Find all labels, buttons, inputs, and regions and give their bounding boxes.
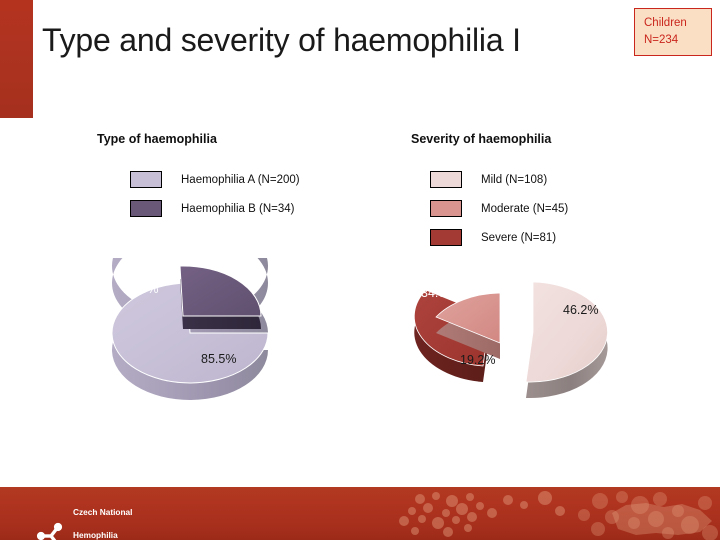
page-title: Type and severity of haemophilia I: [42, 22, 612, 59]
legend-item-haemophilia-b: Haemophilia B (N=34): [130, 194, 300, 223]
cohort-badge-line2: N=234: [644, 32, 703, 49]
legend-swatch-haemophilia-b: [130, 200, 162, 217]
cohort-badge-line1: Children: [644, 15, 703, 32]
legend-label-haemophilia-a: Haemophilia A (N=200): [181, 174, 300, 186]
legend-label-severe: Severe (N=81): [481, 232, 556, 244]
type-pie-svg: [68, 258, 318, 408]
type-panel-title: Type of haemophilia: [97, 132, 217, 146]
footer-logo-text: Czech National Hemophilia Program: [73, 496, 132, 540]
legend-item-haemophilia-a: Haemophilia A (N=200): [130, 165, 300, 194]
czech-map-shape: [612, 503, 712, 535]
legend-swatch-severe: [430, 229, 462, 246]
molecule-icon: [36, 521, 66, 540]
legend-label-moderate: Moderate (N=45): [481, 203, 568, 215]
severity-panel-title: Severity of haemophilia: [411, 132, 551, 146]
legend-item-moderate: Moderate (N=45): [430, 194, 568, 223]
footer-bar: Czech National Hemophilia Program: [0, 487, 720, 540]
header-accent-bar: [0, 0, 33, 118]
type-legend: Haemophilia A (N=200) Haemophilia B (N=3…: [130, 165, 300, 223]
legend-swatch-mild: [430, 171, 462, 188]
legend-label-haemophilia-b: Haemophilia B (N=34): [181, 203, 294, 215]
legend-swatch-haemophilia-a: [130, 171, 162, 188]
footer-logo: Czech National Hemophilia Program: [36, 496, 132, 540]
legend-label-mild: Mild (N=108): [481, 174, 547, 186]
cohort-badge: Children N=234: [634, 8, 712, 56]
pie-slice-haemophilia-b: [180, 266, 261, 329]
severity-pie-svg: [378, 258, 658, 408]
type-pie-chart: 14.5% 85.5%: [68, 258, 318, 408]
legend-item-mild: Mild (N=108): [430, 165, 568, 194]
footer-logo-line1: Czech National: [73, 507, 132, 518]
pie-slice-mild: [526, 282, 608, 398]
footer-logo-line2: Hemophilia: [73, 530, 132, 540]
severity-pie-chart: 46.2% 34.6% 19.2%: [378, 258, 658, 408]
legend-swatch-moderate: [430, 200, 462, 217]
severity-legend: Mild (N=108) Moderate (N=45) Severe (N=8…: [430, 165, 568, 252]
legend-item-severe: Severe (N=81): [430, 223, 568, 252]
